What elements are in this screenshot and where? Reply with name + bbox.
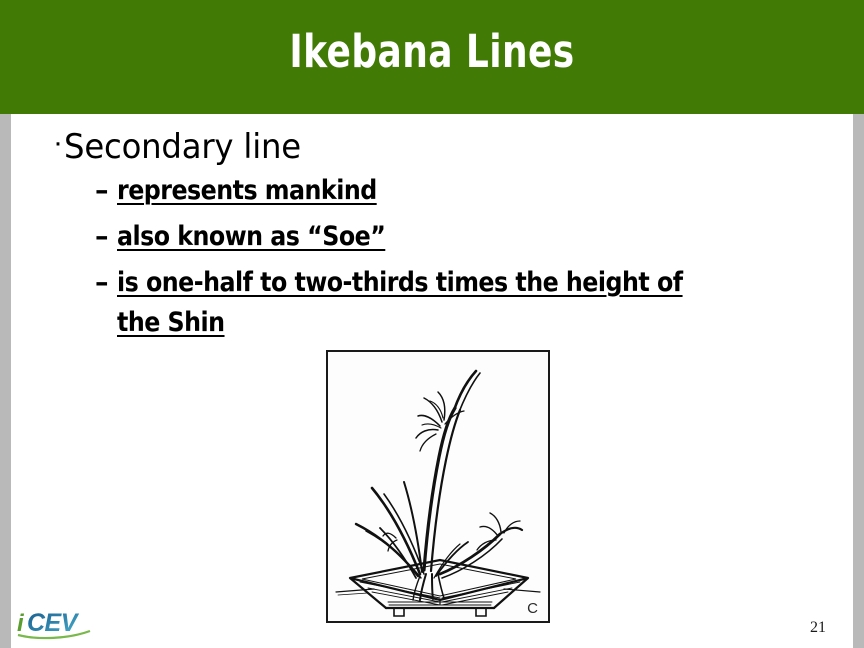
illustration-corner-label: C <box>527 600 538 617</box>
bullet-level2-label: also known as “Soe” <box>117 217 385 257</box>
bullet-level1-label: Secondary line <box>64 125 301 169</box>
ikebana-illustration: C <box>326 350 550 623</box>
bullet-level2-label: represents mankind <box>117 171 377 211</box>
slide: Ikebana Lines · Secondary line – represe… <box>0 0 864 648</box>
icev-logo: i CEV <box>16 606 102 640</box>
bullet-level2-item: – is one-half to two-thirds times the he… <box>95 263 795 343</box>
dash-bullet-icon: – <box>95 217 117 257</box>
ikebana-drawing-icon <box>328 352 548 621</box>
logo-letter-i: i <box>17 610 25 637</box>
slide-body: · Secondary line – represents mankind – … <box>11 114 853 648</box>
page-number: 21 <box>810 619 826 637</box>
bullet-level1: · Secondary line <box>53 125 313 169</box>
title-banner: Ikebana Lines <box>0 0 864 114</box>
bullet-level2-label: is one-half to two-thirds times the heig… <box>117 263 714 343</box>
right-edge-strip <box>853 114 864 648</box>
bullet-dot-icon: · <box>53 122 63 164</box>
left-edge-strip <box>0 114 11 648</box>
page-title: Ikebana Lines <box>86 23 777 81</box>
dash-bullet-icon: – <box>95 263 117 303</box>
logo-letters-cev: CEV <box>27 609 80 637</box>
dash-bullet-icon: – <box>95 171 117 211</box>
bullet-level2-list: – represents mankind – also known as “So… <box>95 171 795 349</box>
bullet-level2-item: – also known as “Soe” <box>95 217 795 257</box>
bullet-level2-item: – represents mankind <box>95 171 795 211</box>
